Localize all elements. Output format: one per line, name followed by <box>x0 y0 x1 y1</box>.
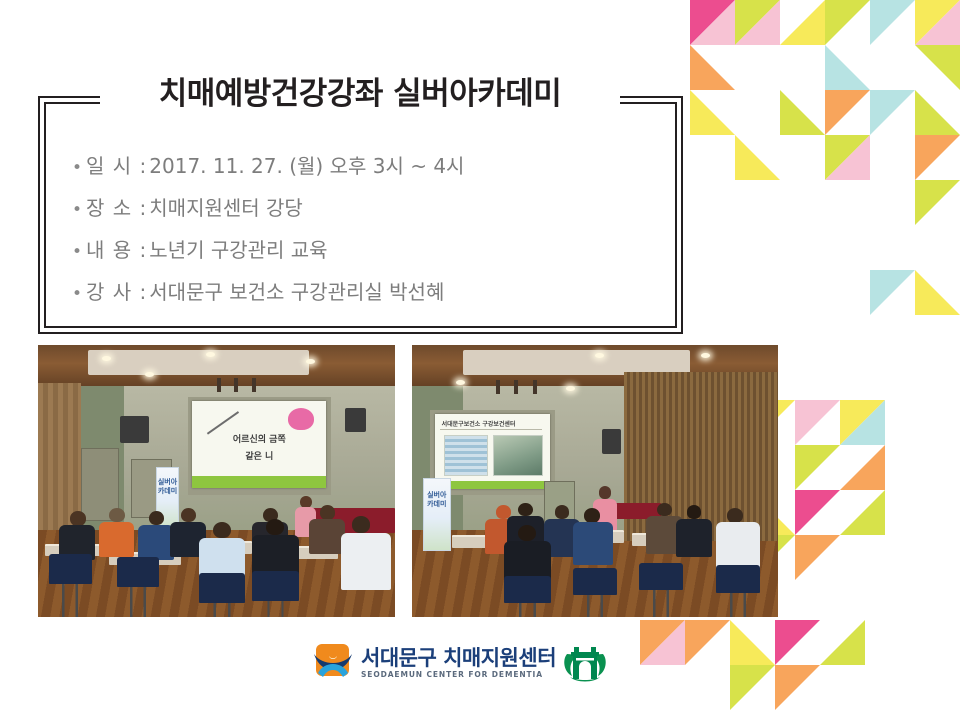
decor-triangle <box>730 665 775 710</box>
projected-slide: 서대문구보건소 구강보건센터 <box>435 414 551 489</box>
chair <box>504 576 552 603</box>
ceiling-light <box>206 352 215 357</box>
decor-triangle <box>795 490 840 535</box>
decor-triangle <box>915 0 960 45</box>
decor-triangle <box>915 180 960 225</box>
attendee-head <box>657 503 672 517</box>
projector-screen: 서대문구보건소 구강보건센터 <box>435 414 551 489</box>
list-item: • 일 시 : 2017. 11. 27. (월) 오후 3시 ~ 4시 <box>72 146 672 188</box>
attendee-head <box>70 511 86 526</box>
wall-speaker <box>120 416 149 443</box>
decor-triangle <box>840 490 885 535</box>
ceiling-light <box>566 386 575 391</box>
decor-triangle <box>870 90 915 135</box>
pendant-light <box>514 380 518 394</box>
slide-heading: 서대문구보건소 구강보건센터 <box>442 419 516 428</box>
detail-value: 노년기 구강관리 교육 <box>149 230 327 270</box>
attendee-body <box>716 522 760 571</box>
detail-label: 내 용 : <box>86 230 147 270</box>
standing-banner: 실버아카데미 <box>423 478 451 551</box>
slide-line-1: 어르신의 금쪽 <box>192 432 326 445</box>
slide-band <box>435 481 551 489</box>
attendee-head <box>584 508 600 523</box>
banner-text: 실버아카데미 <box>157 478 178 496</box>
decor-triangle <box>870 270 915 315</box>
attendee-body <box>138 525 174 560</box>
attendee-head <box>213 522 231 538</box>
gate-emblem-icon <box>562 642 608 684</box>
poster-slide: 치매예방건강강좌 실버아카데미 • 일 시 : 2017. 11. 27. (월… <box>0 0 960 720</box>
chair <box>199 573 245 603</box>
decor-triangle <box>685 620 730 665</box>
presenter-head <box>599 486 611 499</box>
attendee-head <box>109 508 125 522</box>
attendee-head <box>687 505 702 519</box>
decor-triangle <box>735 0 780 45</box>
detail-label: 장 소 : <box>86 188 147 228</box>
attendee-head <box>320 505 335 519</box>
slide-band <box>192 476 326 488</box>
decor-triangle <box>795 445 840 490</box>
attendee-head <box>555 505 570 519</box>
decor-triangle <box>690 0 735 45</box>
photo-lecture-hall-left: 어르신의 금쪽 같은 니 실버아카데미 <box>38 345 395 617</box>
logo-name-ko: 서대문구 치매지원센터 <box>361 647 556 669</box>
ceiling-light <box>306 359 315 364</box>
attendee-body <box>676 519 713 557</box>
chair <box>49 554 92 584</box>
attendee-body <box>99 522 135 557</box>
decor-triangle <box>870 0 915 45</box>
slide-image-building <box>444 435 488 476</box>
decor-triangle <box>915 0 960 45</box>
chair <box>639 563 683 590</box>
pendant-light <box>252 378 256 392</box>
decor-triangle <box>780 0 825 45</box>
decor-triangle <box>775 620 820 665</box>
event-details-list: • 일 시 : 2017. 11. 27. (월) 오후 3시 ~ 4시 • 장… <box>72 146 672 314</box>
decor-triangle <box>780 90 825 135</box>
attendee-head <box>149 511 164 525</box>
chair <box>573 568 617 595</box>
decor-triangle <box>730 620 775 665</box>
detail-label: 일 시 : <box>86 146 147 186</box>
slide-divider <box>440 429 542 430</box>
toothbrush-icon <box>207 411 239 434</box>
pendant-light <box>234 378 238 392</box>
slide-line-2: 같은 니 <box>192 449 326 462</box>
organization-logo: 서대문구 치매지원센터 SEODAEMUN CENTER FOR DEMENTI… <box>312 640 657 686</box>
attendee-head <box>727 508 743 523</box>
person-figure-icon <box>312 650 354 680</box>
pendant-light <box>217 378 221 392</box>
detail-value: 치매지원센터 강당 <box>149 188 303 228</box>
wall-speaker <box>602 429 620 453</box>
decor-pattern-bottom-center <box>640 620 960 720</box>
detail-label: 강 사 : <box>86 272 147 312</box>
bullet-icon: • <box>72 232 86 272</box>
attendee-head <box>518 503 533 517</box>
logo-mark-icon <box>312 644 354 682</box>
pendant-light <box>533 380 537 394</box>
list-item: • 장 소 : 치매지원센터 강당 <box>72 188 672 230</box>
decor-triangle <box>690 90 735 135</box>
decor-triangle <box>840 400 885 445</box>
logo-name-en: SEODAEMUN CENTER FOR DEMENTIA <box>361 669 556 680</box>
decor-triangle <box>915 45 960 90</box>
ceiling-light <box>102 356 111 361</box>
attendee-body <box>309 519 345 554</box>
page-title: 치매예방건강강좌 실버아카데미 <box>100 72 620 116</box>
decor-triangle <box>795 535 840 580</box>
detail-value: 2017. 11. 27. (월) 오후 3시 ~ 4시 <box>149 146 464 186</box>
tooth-graphic-icon <box>288 408 315 431</box>
attendee-head <box>352 516 370 532</box>
chair <box>117 557 160 587</box>
decor-triangle <box>825 90 870 135</box>
attendee-head <box>518 525 536 541</box>
decor-triangle <box>915 90 960 135</box>
decor-triangle <box>840 445 885 490</box>
decor-triangle <box>775 665 820 710</box>
bullet-icon: • <box>72 148 86 188</box>
decor-triangle <box>735 135 780 180</box>
decor-triangle <box>820 620 865 665</box>
decor-triangle <box>825 135 870 180</box>
decor-triangle <box>690 45 735 90</box>
projector-screen: 어르신의 금쪽 같은 니 <box>192 401 326 488</box>
slide-image-clinic <box>493 435 544 476</box>
chair <box>716 565 760 592</box>
decor-triangle <box>735 0 780 45</box>
list-item: • 강 사 : 서대문구 보건소 구강관리실 박선혜 <box>72 272 672 314</box>
decor-triangle <box>825 0 870 45</box>
attendee-body <box>341 533 391 590</box>
decor-triangle <box>795 400 840 445</box>
decor-triangle <box>690 0 735 45</box>
wall-speaker <box>345 408 366 432</box>
projected-slide: 어르신의 금쪽 같은 니 <box>192 401 326 488</box>
page-title-text: 치매예방건강강좌 실버아카데미 <box>159 76 562 112</box>
banner-text: 실버아카데미 <box>424 491 450 509</box>
chair <box>252 571 298 601</box>
decor-triangle <box>915 270 960 315</box>
logo-text: 서대문구 치매지원센터 SEODAEMUN CENTER FOR DEMENTI… <box>361 647 556 680</box>
decor-triangle <box>840 400 885 445</box>
bullet-icon: • <box>72 190 86 230</box>
list-item: • 내 용 : 노년기 구강관리 교육 <box>72 230 672 272</box>
attendee-head <box>181 508 196 522</box>
photo-lecture-hall-right: 서대문구보건소 구강보건센터 실버아카데미 <box>412 345 778 617</box>
decor-triangle <box>915 135 960 180</box>
bullet-icon: • <box>72 274 86 314</box>
attendee-body <box>573 522 613 566</box>
decor-triangle <box>825 45 870 90</box>
pendant-light <box>496 380 500 394</box>
detail-value: 서대문구 보건소 구강관리실 박선혜 <box>149 272 444 312</box>
ceiling-panel <box>88 350 309 374</box>
decor-triangle <box>825 135 870 180</box>
